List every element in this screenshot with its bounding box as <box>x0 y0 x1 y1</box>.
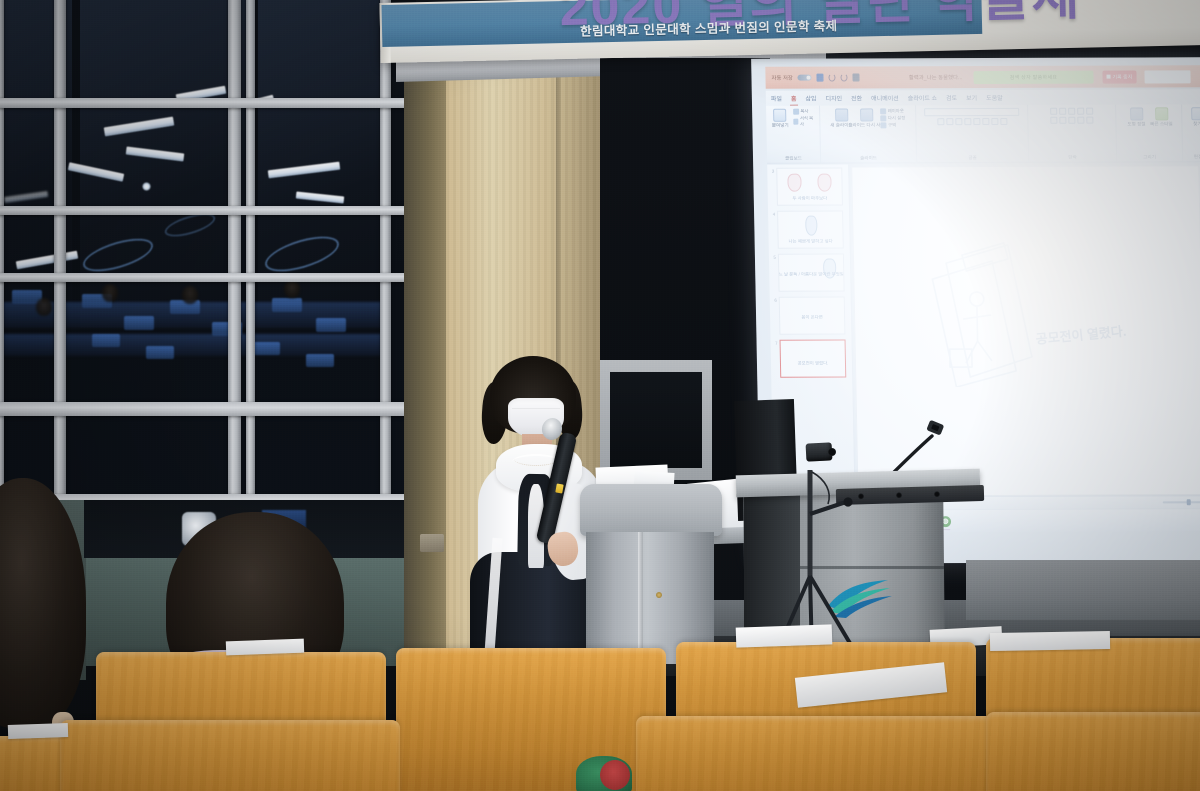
copy-button[interactable]: 복사 <box>793 109 815 115</box>
section-label: 구역 <box>888 122 896 128</box>
copy-icon <box>793 109 799 115</box>
slide-number: 5 <box>771 254 776 260</box>
list-item[interactable]: 7 공모전이 열렸다. <box>773 339 851 377</box>
layout-button[interactable]: 레이아웃 <box>880 108 905 114</box>
numbering-button[interactable] <box>1059 108 1066 115</box>
list-item[interactable]: 4 나는 예쁘게 말하고 싶다 <box>770 210 848 248</box>
thumb-figure-left <box>787 174 801 192</box>
tab-transitions[interactable]: 전환 <box>851 93 862 102</box>
ribbon-group-font: 글꼴 <box>916 105 1029 162</box>
section-icon <box>880 122 886 128</box>
align-left-button[interactable] <box>1050 117 1057 124</box>
autosave-toggle[interactable] <box>798 75 812 81</box>
underline-button[interactable] <box>955 118 962 125</box>
seat-paper-2 <box>736 624 833 647</box>
font-style-row <box>937 118 1007 125</box>
search-box[interactable]: 검색 상자 말씀하세요 <box>973 70 1093 83</box>
reuse-slides-button[interactable]: 슬라이드 다시 사용 <box>855 108 877 127</box>
document-filename: 활력과_나는 동물했다... <box>909 73 963 81</box>
layout-icon <box>880 108 886 114</box>
ribbon-group-editing: 찾기 편집 <box>1182 104 1200 161</box>
powerpoint-title-bar: 자동 저장 활력과_나는 동물했다... 검색 상자 말씀하세요 기록 중지 <box>765 65 1200 89</box>
paragraph-row-1 <box>1050 108 1093 115</box>
slide-number: 7 <box>773 340 778 346</box>
arrange-label: 도형 정렬 <box>1127 121 1145 126</box>
shadow-button[interactable] <box>964 118 971 125</box>
foreground-red-object <box>600 760 630 790</box>
format-painter-button[interactable]: 서식 복사 <box>793 116 816 128</box>
tab-review[interactable]: 검토 <box>946 93 957 102</box>
camcorder-lens <box>828 448 836 456</box>
ribbon-group-drawing: 도형 정렬 빠른 스타일 그리기 <box>1116 104 1183 161</box>
podium-knob[interactable] <box>656 592 662 598</box>
copy-label: 복사 <box>800 109 808 115</box>
ribbon-group-slides: 새 슬라이드 슬라이드 다시 사용 레이아웃 다시 설정 <box>820 105 917 162</box>
paste-icon <box>773 109 786 122</box>
photo-canvas: 자동 저장 활력과_나는 동물했다... 검색 상자 말씀하세요 기록 중지 파… <box>0 0 1200 791</box>
font-name-input[interactable] <box>924 108 1019 116</box>
reuse-slides-icon <box>860 108 873 121</box>
thumb-figure <box>805 216 817 236</box>
group-name-drawing: 그리기 <box>1143 154 1156 161</box>
group-name-font: 글꼴 <box>968 155 977 162</box>
tab-help[interactable]: 도움말 <box>986 93 1003 102</box>
necklace <box>514 452 558 466</box>
italic-button[interactable] <box>946 118 953 125</box>
start-presentation-icon[interactable] <box>853 73 860 81</box>
strikethrough-button[interactable] <box>973 118 980 125</box>
justify-button[interactable] <box>1077 117 1084 124</box>
format-painter-icon <box>793 119 798 125</box>
thumb-figure-right <box>817 174 831 192</box>
autosave-label: 자동 저장 <box>771 74 792 82</box>
slide-caption: 봄이 온다면 <box>801 315 823 321</box>
font-color-button[interactable] <box>991 118 998 125</box>
stop-recording-label: 기록 중지 <box>1112 73 1132 80</box>
decrease-indent-button[interactable] <box>1068 108 1075 115</box>
tab-animations[interactable]: 애니메이션 <box>871 93 899 102</box>
paste-button[interactable]: 붙여넣기 <box>770 109 790 128</box>
ribbon-body: 붙여넣기 복사 서식 복사 클립보드 <box>766 104 1200 164</box>
reset-label: 다시 설정 <box>888 115 906 121</box>
slide-caption: 두 사람이 마주보다 <box>792 196 827 202</box>
slide-thumbnail[interactable]: 어느 날 문득 / 아름다운 말이란 무엇일까 <box>778 254 845 292</box>
wall-outlet[interactable] <box>420 534 444 552</box>
rail-port-2[interactable] <box>896 492 902 498</box>
arrange-icon <box>1130 107 1143 120</box>
bullets-button[interactable] <box>1050 108 1057 115</box>
list-item[interactable]: 5 어느 날 문득 / 아름다운 말이란 무엇일까 <box>771 253 849 291</box>
slide-thumbnail[interactable]: 나는 예쁘게 말하고 싶다 <box>777 211 844 249</box>
slide-thumbnail[interactable]: 봄이 온다면 <box>779 296 846 334</box>
quick-styles-icon <box>1155 107 1168 120</box>
seat-paper-1 <box>226 639 304 656</box>
ribbon-group-clipboard: 붙여넣기 복사 서식 복사 클립보드 <box>766 106 821 163</box>
slide-caption: 어느 날 문득 / 아름다운 말이란 무엇일까 <box>778 271 845 277</box>
list-item[interactable]: 6 봄이 온다면 <box>772 296 850 334</box>
slide-thumbnail-selected[interactable]: 공모전이 열렸다. <box>780 339 847 377</box>
tab-design[interactable]: 디자인 <box>825 94 842 103</box>
columns-button[interactable] <box>1086 117 1093 124</box>
slide-thumbnail[interactable]: 두 사람이 마주보다 <box>776 168 843 206</box>
seat-row1-right[interactable] <box>986 712 1200 791</box>
slide-number: 6 <box>772 297 777 303</box>
group-name-editing: 편집 <box>1194 154 1200 161</box>
bold-button[interactable] <box>937 118 944 125</box>
text-highlight-button[interactable] <box>1000 118 1007 125</box>
paragraph-row-2 <box>1050 117 1093 124</box>
new-slide-icon <box>835 109 848 122</box>
seat-paper-5 <box>8 723 68 739</box>
slide-number: 3 <box>769 168 774 174</box>
increase-indent-button[interactable] <box>1077 108 1084 115</box>
quick-styles-button[interactable]: 빠른 스타일 <box>1150 107 1172 126</box>
list-item[interactable]: 3 두 사람이 마주보다 <box>769 168 847 206</box>
save-icon[interactable] <box>817 74 824 82</box>
rail-port-3[interactable] <box>934 491 940 497</box>
reset-button[interactable]: 다시 설정 <box>880 115 905 121</box>
group-name-clipboard: 클립보드 <box>785 156 802 163</box>
group-name-slides: 슬라이드 <box>860 155 877 162</box>
record-dot-icon <box>1106 75 1110 79</box>
tab-home[interactable]: 홈 <box>791 94 797 103</box>
section-button[interactable]: 구역 <box>880 122 905 128</box>
find-button[interactable]: 찾기 <box>1186 107 1200 126</box>
character-spacing-button[interactable] <box>982 118 989 125</box>
podium-top-surface <box>580 484 722 536</box>
tab-slideshow[interactable]: 슬라이드 쇼 <box>908 93 937 102</box>
line-spacing-button[interactable] <box>1086 108 1093 115</box>
reuse-slides-label: 슬라이드 다시 사용 <box>848 122 884 127</box>
slide-number: 4 <box>770 211 775 217</box>
titlebar-blank-area <box>1144 70 1190 83</box>
seat-row1-mid-left[interactable] <box>60 720 400 791</box>
ribbon-group-paragraph: 단락 <box>1028 105 1117 162</box>
paste-label: 붙여넣기 <box>772 123 789 128</box>
align-center-button[interactable] <box>1059 117 1066 124</box>
align-right-button[interactable] <box>1068 117 1075 124</box>
seat-row1-mid-right[interactable] <box>636 716 996 791</box>
quick-styles-label: 빠른 스타일 <box>1150 121 1173 126</box>
redo-icon[interactable] <box>841 74 848 82</box>
ribbon-tab-strip: 파일 홈 삽입 디자인 전환 애니메이션 슬라이드 쇼 검토 보기 도움말 <box>766 89 1200 106</box>
glass-window-wall <box>0 0 416 558</box>
slide-caption: 나는 예쁘게 말하고 싶다 <box>789 239 833 245</box>
undo-icon[interactable] <box>829 74 836 82</box>
zoom-slider[interactable] <box>1162 501 1200 503</box>
slide-illustration <box>912 237 1055 387</box>
find-icon <box>1191 107 1200 120</box>
tab-file[interactable]: 파일 <box>771 94 782 103</box>
arrange-button[interactable]: 도형 정렬 <box>1125 107 1147 126</box>
seat-paper-4 <box>990 631 1110 651</box>
tab-insert[interactable]: 삽입 <box>805 94 816 103</box>
reset-icon <box>880 115 886 121</box>
format-painter-label: 서식 복사 <box>800 116 816 128</box>
slide-caption: 공모전이 열렸다. <box>798 361 829 367</box>
layout-label: 레이아웃 <box>888 108 904 114</box>
stop-recording-button[interactable]: 기록 중지 <box>1102 70 1136 83</box>
group-name-paragraph: 단락 <box>1068 155 1077 162</box>
status-right-cluster: 68% <box>1162 500 1200 505</box>
find-label: 찾기 <box>1193 121 1200 126</box>
tab-view[interactable]: 보기 <box>966 93 977 102</box>
